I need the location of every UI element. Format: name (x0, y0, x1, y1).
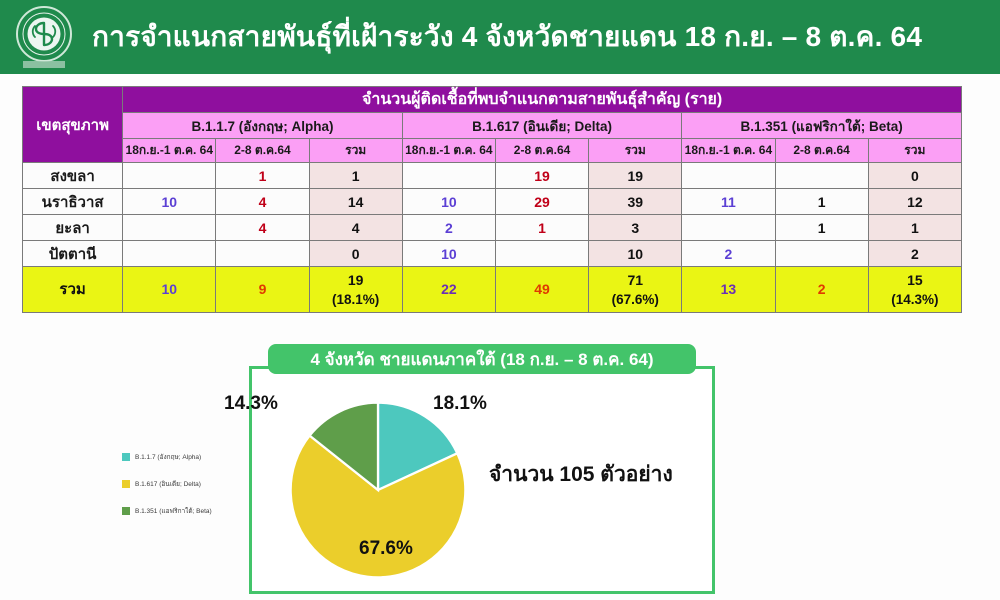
total-value: 15 (907, 272, 923, 288)
pie-total-note: จำนวน 105 ตัวอย่าง (489, 458, 673, 491)
table-head: เขตสุขภาพ จำนวนผู้ติดเชื้อที่พบจำแนกตามส… (23, 87, 962, 163)
cell: 12 (868, 189, 961, 215)
cell: 10 (123, 189, 216, 215)
row-label-yala: ยะลา (23, 215, 123, 241)
ministry-of-public-health-emblem-icon (0, 0, 88, 74)
total-cell: 9 (216, 267, 309, 313)
cell: 0 (309, 241, 402, 267)
cell: 3 (589, 215, 682, 241)
table-row: สงขลา 1 1 19 19 0 (23, 163, 962, 189)
table-row: นราธิวาส 10 4 14 10 29 39 11 1 12 (23, 189, 962, 215)
column-header-zone: เขตสุขภาพ (23, 87, 123, 163)
cell: 19 (589, 163, 682, 189)
total-percent: (14.3%) (869, 290, 961, 310)
column-group-header-alpha: B.1.1.7 (อังกฤษ; Alpha) (123, 113, 403, 139)
table-subheader-row: 18ก.ย.-1 ต.ค. 64 2-8 ต.ค.64 รวม 18ก.ย.-1… (23, 139, 962, 163)
cell: 1 (775, 215, 868, 241)
column-group-header-delta: B.1.617 (อินเดีย; Delta) (402, 113, 682, 139)
page-title: การจำแนกสายพันธุ์ที่เฝ้าระวัง 4 จังหวัดช… (88, 22, 922, 53)
total-cell-alpha-sum: 19 (18.1%) (309, 267, 402, 313)
cell (123, 163, 216, 189)
cell: 1 (868, 215, 961, 241)
variant-table-container: เขตสุขภาพ จำนวนผู้ติดเชื้อที่พบจำแนกตามส… (22, 86, 962, 313)
header-banner: การจำแนกสายพันธุ์ที่เฝ้าระวัง 4 จังหวัดช… (0, 0, 1000, 74)
table-super-header: จำนวนผู้ติดเชื้อที่พบจำแนกตามสายพันธุ์สำ… (123, 87, 962, 113)
table-total-row: รวม 10 9 19 (18.1%) 22 49 71 (67.6%) 13 … (23, 267, 962, 313)
row-label-pattani: ปัตตานี (23, 241, 123, 267)
cell: 11 (682, 189, 775, 215)
legend-item-alpha: B.1.1.7 (อังกฤษ; Alpha) (122, 452, 242, 462)
subheader-delta-period2: 2-8 ต.ค.64 (495, 139, 588, 163)
cell: 0 (868, 163, 961, 189)
cell: 4 (309, 215, 402, 241)
pie-chart-caption: 4 จังหวัด ชายแดนภาคใต้ (18 ก.ย. – 8 ต.ค.… (268, 344, 696, 374)
subheader-alpha-total: รวม (309, 139, 402, 163)
subheader-delta-period1: 18ก.ย.-1 ต.ค. 64 (402, 139, 495, 163)
cell: 10 (589, 241, 682, 267)
legend-label-beta: B.1.351 (แอฟริกาใต้; Beta) (135, 506, 212, 516)
subheader-beta-period2: 2-8 ต.ค.64 (775, 139, 868, 163)
cell: 1 (775, 189, 868, 215)
total-cell: 13 (682, 267, 775, 313)
pie-legend: B.1.1.7 (อังกฤษ; Alpha) B.1.617 (อินเดีย… (122, 452, 242, 533)
cell (123, 215, 216, 241)
total-cell-beta-sum: 15 (14.3%) (868, 267, 961, 313)
column-group-header-beta: B.1.351 (แอฟริกาใต้; Beta) (682, 113, 962, 139)
cell: 2 (682, 241, 775, 267)
cell: 4 (216, 215, 309, 241)
cell (495, 241, 588, 267)
legend-label-alpha: B.1.1.7 (อังกฤษ; Alpha) (135, 452, 201, 462)
cell: 19 (495, 163, 588, 189)
pie-label-delta: 67.6% (359, 538, 413, 560)
table-variant-header-row: B.1.1.7 (อังกฤษ; Alpha) B.1.617 (อินเดีย… (23, 113, 962, 139)
variant-table: เขตสุขภาพ จำนวนผู้ติดเชื้อที่พบจำแนกตามส… (22, 86, 962, 313)
cell (775, 163, 868, 189)
legend-item-beta: B.1.351 (แอฟริกาใต้; Beta) (122, 506, 242, 516)
subheader-alpha-period1: 18ก.ย.-1 ต.ค. 64 (123, 139, 216, 163)
cell (402, 163, 495, 189)
total-percent: (18.1%) (310, 290, 402, 310)
total-value: 19 (348, 272, 364, 288)
slide-root: การจำแนกสายพันธุ์ที่เฝ้าระวัง 4 จังหวัดช… (0, 0, 1000, 600)
total-cell: 2 (775, 267, 868, 313)
total-cell: 49 (495, 267, 588, 313)
cell (682, 215, 775, 241)
cell (216, 241, 309, 267)
cell (775, 241, 868, 267)
subheader-alpha-period2: 2-8 ต.ค.64 (216, 139, 309, 163)
row-label-narathiwat: นราธิวาส (23, 189, 123, 215)
cell: 10 (402, 241, 495, 267)
pie-label-beta: 14.3% (224, 393, 278, 415)
cell: 2 (868, 241, 961, 267)
pie-label-alpha: 18.1% (433, 393, 487, 415)
cell: 1 (216, 163, 309, 189)
total-cell: 22 (402, 267, 495, 313)
table-row: ยะลา 4 4 2 1 3 1 1 (23, 215, 962, 241)
table-row: ปัตตานี 0 10 10 2 2 (23, 241, 962, 267)
table-super-header-row: เขตสุขภาพ จำนวนผู้ติดเชื้อที่พบจำแนกตามส… (23, 87, 962, 113)
subheader-delta-total: รวม (589, 139, 682, 163)
legend-label-delta: B.1.617 (อินเดีย; Delta) (135, 479, 201, 489)
total-cell: 10 (123, 267, 216, 313)
cell: 29 (495, 189, 588, 215)
cell: 14 (309, 189, 402, 215)
total-percent: (67.6%) (589, 290, 681, 310)
total-value: 71 (627, 272, 643, 288)
cell: 4 (216, 189, 309, 215)
row-label-total: รวม (23, 267, 123, 313)
cell: 10 (402, 189, 495, 215)
total-cell-delta-sum: 71 (67.6%) (589, 267, 682, 313)
cell: 39 (589, 189, 682, 215)
legend-swatch-alpha-icon (122, 453, 130, 461)
subheader-beta-total: รวม (868, 139, 961, 163)
cell: 2 (402, 215, 495, 241)
legend-swatch-delta-icon (122, 480, 130, 488)
cell: 1 (309, 163, 402, 189)
table-body: สงขลา 1 1 19 19 0 นราธิวาส 10 4 14 10 (23, 163, 962, 313)
subheader-beta-period1: 18ก.ย.-1 ต.ค. 64 (682, 139, 775, 163)
legend-item-delta: B.1.617 (อินเดีย; Delta) (122, 479, 242, 489)
cell (123, 241, 216, 267)
cell (682, 163, 775, 189)
legend-swatch-beta-icon (122, 507, 130, 515)
cell: 1 (495, 215, 588, 241)
row-label-songkhla: สงขลา (23, 163, 123, 189)
